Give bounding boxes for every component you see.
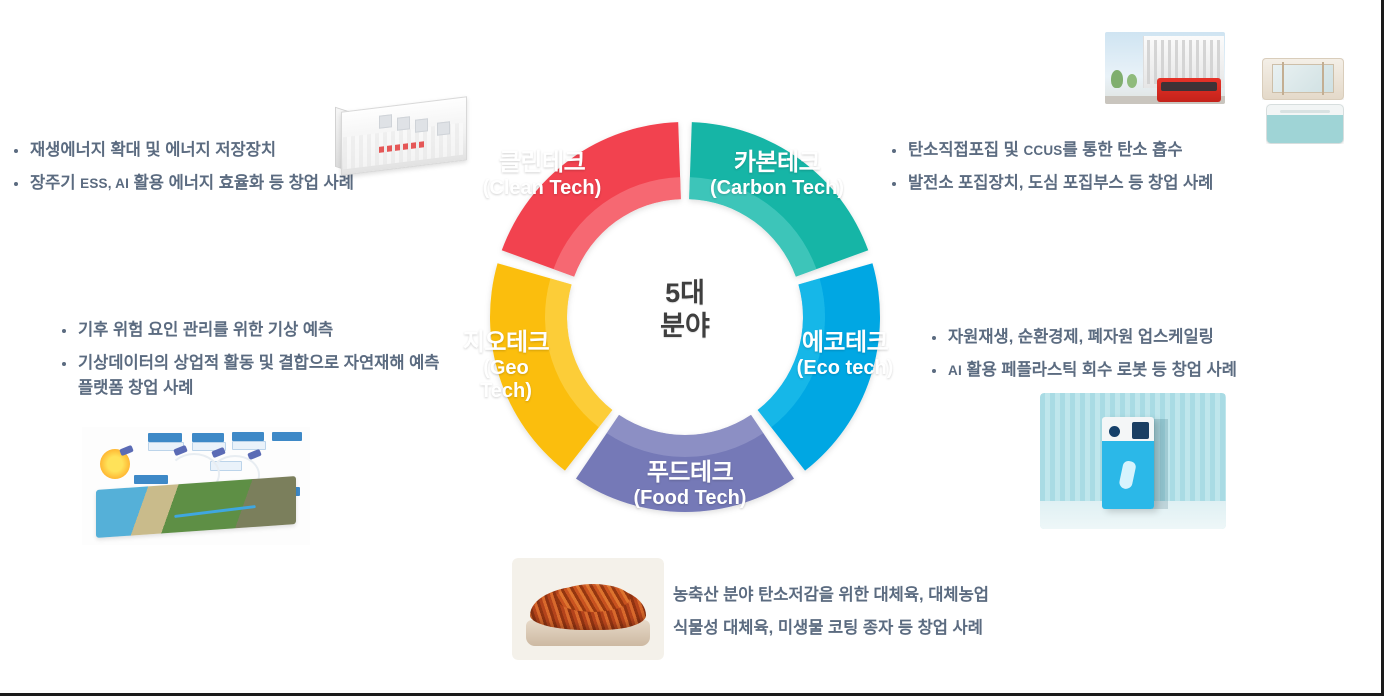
device-slot	[1280, 110, 1330, 113]
five-fields-donut-chart: 클린테크 (Clean Tech) 카본테크 (Carbon Tech) 에코테…	[430, 82, 940, 552]
notes-eco-list: 자원재생, 순환경제, 폐자원 업스케일링AI 활용 페플라스틱 회수 로봇 등…	[930, 325, 1350, 383]
ess-vent	[415, 118, 428, 133]
notes-carbon-tech: 탄소직접포집 및 CCUS를 통한 탄소 흡수발전소 포집장치, 도심 포집부스…	[890, 138, 1320, 203]
note-acronym: CCUS	[1023, 143, 1062, 158]
notes-geo-tech: 기후 위험 요인 관리를 위한 기상 예측기상데이터의 상업적 활동 및 결합으…	[60, 318, 450, 409]
notes-carbon-list: 탄소직접포집 및 CCUS를 통한 탄소 흡수발전소 포집장치, 도심 포집부스…	[890, 138, 1320, 196]
note-bullet: 기후 위험 요인 관리를 위한 기상 예측	[60, 318, 450, 344]
note-bullet: 발전소 포집장치, 도심 포집부스 등 창업 사례	[890, 171, 1320, 197]
alternative-meat-photo	[512, 558, 664, 660]
water-cycle-diagram-image	[82, 427, 310, 545]
geo-diagram-tag	[272, 432, 302, 441]
note-bullet: AI 활용 페플라스틱 회수 로봇 등 창업 사례	[930, 358, 1350, 384]
ess-vent	[437, 121, 450, 136]
donut-slice-food[interactable]	[576, 415, 794, 512]
note-bullet: 식물성 대체육, 미생물 코팅 종자 등 창업 사례	[655, 616, 1085, 642]
capture-device-photo	[1266, 104, 1344, 144]
geo-diagram-tag	[232, 441, 266, 450]
note-bullet: 자원재생, 순환경제, 폐자원 업스케일링	[930, 325, 1350, 351]
bus-photo-red-bus	[1157, 78, 1221, 102]
geo-diagram-tag	[192, 433, 224, 442]
geo-diagram-tag	[232, 432, 264, 441]
donut-center-label: 5대 분야	[585, 277, 785, 343]
kiosk-screen	[1132, 422, 1149, 439]
bottle-recycling-kiosk-photo	[1040, 393, 1226, 529]
notes-food-list: 농축산 분야 탄소저감을 위한 대체육, 대체농업식물성 대체육, 미생물 코팅…	[655, 583, 1085, 641]
kiosk-bottle-graphic	[1118, 460, 1137, 490]
bus-photo-tree	[1127, 74, 1137, 88]
center-label-line1: 5대	[585, 277, 785, 310]
booth-post	[1282, 62, 1284, 95]
note-acronym: ESS, AI	[80, 176, 129, 191]
kiosk-machine	[1102, 417, 1154, 509]
geo-diagram-tag	[148, 433, 182, 442]
note-bullet: 탄소직접포집 및 CCUS를 통한 탄소 흡수	[890, 138, 1320, 164]
food-photo-meat-top	[556, 584, 630, 612]
geo-diagram-tag	[134, 475, 168, 484]
note-bullet: 기상데이터의 상업적 활동 및 결합으로 자연재해 예측 플랫폼 창업 사례	[60, 351, 450, 402]
center-label-line2: 분야	[585, 310, 785, 343]
kiosk-insert-hole	[1109, 426, 1120, 437]
note-bullet: 농축산 분야 탄소저감을 위한 대체육, 대체농업	[655, 583, 1085, 609]
ess-vent	[379, 114, 392, 129]
kiosk-shadow	[1152, 419, 1168, 509]
notes-food-tech: 농축산 분야 탄소저감을 위한 대체육, 대체농업식물성 대체육, 미생물 코팅…	[655, 583, 1085, 648]
ess-container-photo	[333, 82, 473, 187]
notes-eco-tech: 자원재생, 순환경제, 폐자원 업스케일링AI 활용 페플라스틱 회수 로봇 등…	[930, 325, 1350, 390]
capture-booth-photo	[1262, 58, 1344, 100]
carbon-capture-bus-photo	[1105, 32, 1225, 104]
notes-geo-list: 기후 위험 요인 관리를 위한 기상 예측기상데이터의 상업적 활동 및 결합으…	[60, 318, 450, 402]
slide-canvas: 클린테크 (Clean Tech) 카본테크 (Carbon Tech) 에코테…	[0, 0, 1384, 696]
ess-vent	[397, 116, 410, 131]
note-acronym: AI	[948, 363, 962, 378]
bus-photo-tree	[1111, 70, 1123, 88]
booth-post	[1322, 62, 1324, 95]
